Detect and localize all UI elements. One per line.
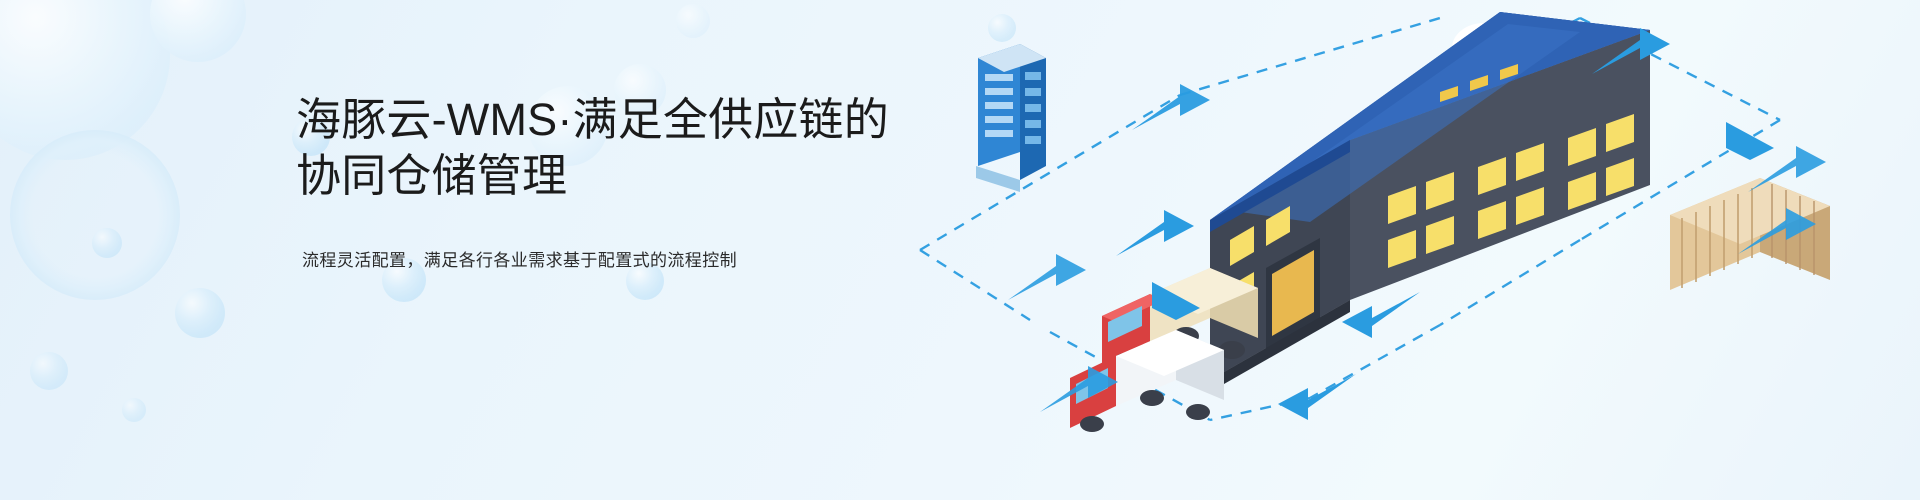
illustration-svg (880, 0, 1920, 500)
bubble-icon (30, 352, 68, 390)
hero-copy: 海豚云-WMS·满足全供应链的 协同仓储管理 流程灵活配置，满足各行各业需求基于… (296, 92, 936, 273)
warehouse-building-icon (1210, 12, 1650, 392)
bubble-icon (150, 0, 246, 62)
warehouse-illustration: 海豚云 WMS 协同仓储管理 (880, 0, 1920, 500)
bubble-icon (0, 0, 170, 160)
hero-banner: 海豚云-WMS·满足全供应链的 协同仓储管理 流程灵活配置，满足各行各业需求基于… (0, 0, 1920, 500)
bubble-icon (92, 228, 122, 258)
page-title: 海豚云-WMS·满足全供应链的 协同仓储管理 (296, 92, 936, 204)
bubble-icon (122, 398, 146, 422)
server-rack-icon (976, 44, 1046, 192)
bubble-icon (175, 288, 225, 338)
bubble-icon (10, 130, 180, 300)
bubble-icon (676, 4, 710, 38)
page-subtitle: 流程灵活配置，满足各行各业需求基于配置式的流程控制 (302, 248, 936, 274)
shipping-container-icon (1670, 178, 1830, 290)
